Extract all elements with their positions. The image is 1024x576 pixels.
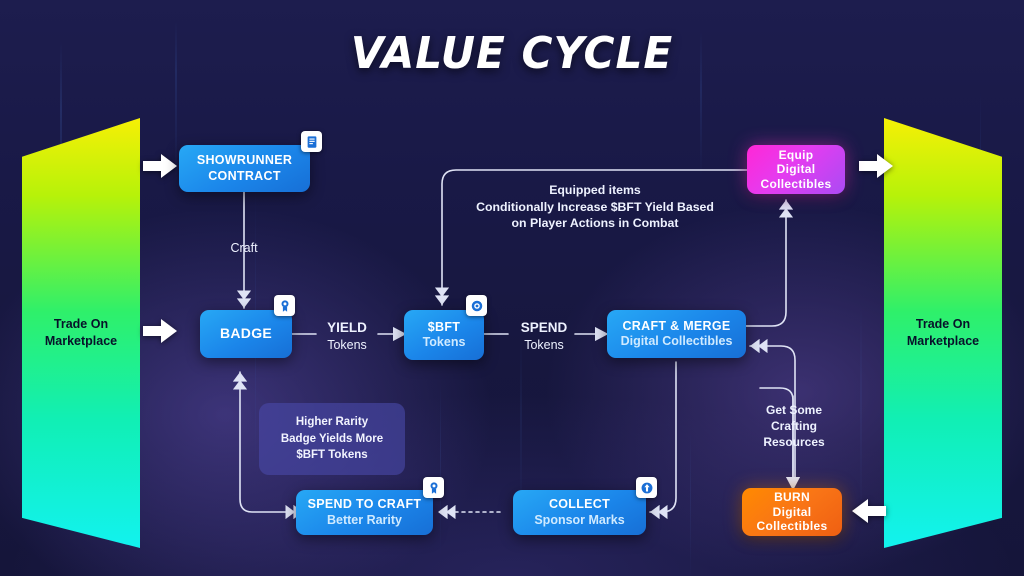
- craft-merge-line2: Digital Collectibles: [621, 334, 733, 349]
- label-spend-sub: Tokens: [505, 337, 583, 354]
- node-badge[interactable]: BADGE: [200, 310, 292, 358]
- node-collect-sponsor-marks[interactable]: COLLECT Sponsor Marks: [513, 490, 646, 535]
- sponsor-mark-icon: [636, 477, 657, 498]
- right-marketplace-panel: Trade On Marketplace: [884, 118, 1002, 548]
- label-yield: YIELD Tokens: [308, 319, 386, 354]
- node-bft-tokens[interactable]: $BFT Tokens: [404, 310, 484, 360]
- right-marketplace-label: Trade On Marketplace: [884, 316, 1002, 350]
- label-yield-strong: YIELD: [308, 319, 386, 337]
- label-yield-sub: Tokens: [308, 337, 386, 354]
- background-streaks: [0, 0, 1024, 576]
- node-burn-digital-collectibles[interactable]: BURN Digital Collectibles: [742, 488, 842, 536]
- burn-line3: Collectibles: [757, 519, 828, 534]
- diagram-canvas: VALUE CYCLE Trade On Marketplace Trade O…: [0, 0, 1024, 576]
- crafting-line2: Crafting: [744, 418, 844, 434]
- equip-line2: Digital: [777, 162, 816, 177]
- spend-to-craft-line2: Better Rarity: [327, 513, 402, 528]
- crafting-line1: Get Some: [744, 402, 844, 418]
- node-showrunner-contract[interactable]: SHOWRUNNER CONTRACT: [179, 145, 310, 192]
- showrunner-line1: SHOWRUNNER: [197, 153, 292, 168]
- right-marketplace-line1: Trade On: [884, 316, 1002, 333]
- spend-to-craft-line1: SPEND TO CRAFT: [308, 497, 422, 512]
- equip-line3: Collectibles: [761, 177, 832, 192]
- badge-label: BADGE: [220, 325, 272, 342]
- arrow-left-panel-to-showrunner-icon: [143, 153, 177, 179]
- connector-wires: [0, 0, 1024, 576]
- higher-rarity-line2: Badge Yields More: [281, 431, 383, 448]
- node-craft-and-merge[interactable]: CRAFT & MERGE Digital Collectibles: [607, 310, 746, 358]
- token-coin-icon: [466, 295, 487, 316]
- equipped-note-line1: Equipped items: [450, 182, 740, 199]
- label-craft: Craft: [206, 240, 282, 257]
- burn-line1: BURN: [774, 490, 810, 505]
- left-marketplace-label: Trade On Marketplace: [22, 316, 140, 350]
- craft-merge-line1: CRAFT & MERGE: [622, 319, 730, 334]
- node-spend-to-craft[interactable]: SPEND TO CRAFT Better Rarity: [296, 490, 433, 535]
- info-panel-higher-rarity: Higher Rarity Badge Yields More $BFT Tok…: [259, 403, 405, 475]
- right-marketplace-line2: Marketplace: [884, 333, 1002, 350]
- node-equip-digital-collectibles[interactable]: Equip Digital Collectibles: [747, 145, 845, 194]
- left-marketplace-line2: Marketplace: [22, 333, 140, 350]
- label-spend-strong: SPEND: [505, 319, 583, 337]
- arrow-right-panel-to-burn-icon: [852, 498, 886, 524]
- arrow-equip-to-right-panel-icon: [859, 153, 893, 179]
- bft-line2: Tokens: [423, 335, 466, 350]
- equipped-note-line3: on Player Actions in Combat: [450, 215, 740, 232]
- award-ribbon-icon: [274, 295, 295, 316]
- left-marketplace-panel: Trade On Marketplace: [22, 118, 140, 548]
- collect-line2: Sponsor Marks: [534, 513, 624, 528]
- crafting-line3: Resources: [744, 434, 844, 450]
- page-title: VALUE CYCLE: [20, 28, 1003, 79]
- bft-line1: $BFT: [428, 320, 460, 335]
- burn-line2: Digital: [773, 505, 812, 520]
- background-streaks-secondary: [0, 0, 1024, 576]
- higher-rarity-line3: $BFT Tokens: [281, 447, 383, 464]
- left-marketplace-line1: Trade On: [22, 316, 140, 333]
- higher-rarity-line1: Higher Rarity: [281, 414, 383, 431]
- label-spend: SPEND Tokens: [505, 319, 583, 354]
- contract-document-icon: [301, 131, 322, 152]
- award-ribbon-icon: [423, 477, 444, 498]
- arrow-left-panel-to-badge-icon: [143, 318, 177, 344]
- label-crafting-resources: Get Some Crafting Resources: [744, 402, 844, 451]
- equip-line1: Equip: [779, 148, 814, 163]
- label-equipped-items-note: Equipped items Conditionally Increase $B…: [450, 182, 740, 232]
- equipped-note-line2: Conditionally Increase $BFT Yield Based: [450, 199, 740, 216]
- collect-line1: COLLECT: [549, 497, 610, 512]
- showrunner-line2: CONTRACT: [208, 169, 281, 184]
